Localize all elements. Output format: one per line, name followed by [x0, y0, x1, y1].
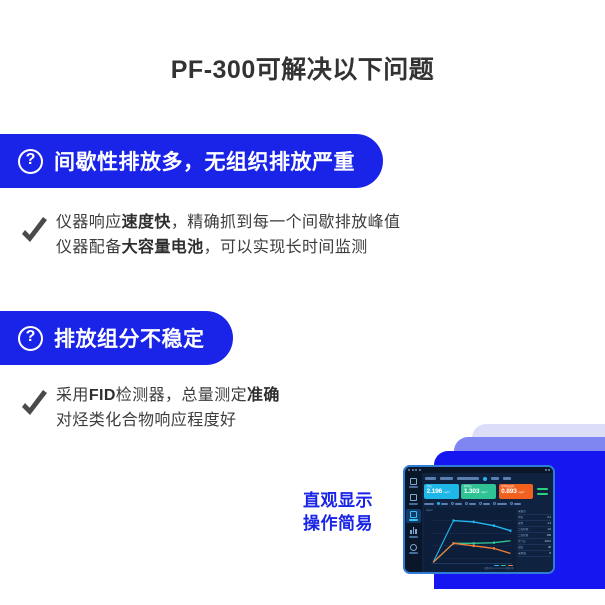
problem-banner-1-label: 间歇性排放多，无组织排放严重: [54, 146, 355, 176]
line-pre: 仪器配备: [56, 239, 122, 256]
app-sidebar: [405, 473, 422, 572]
page-root: PF-300可解决以下问题 ? 间歇性排放多，无组织排放严重 仪器响应速度快，精…: [0, 0, 605, 605]
solution-line: 对烃类化合物响应程度好: [56, 408, 280, 433]
table-row: 温度26: [518, 546, 551, 551]
tablet-device: 甲烷 2.196mg/m³ 非甲烷 1.303mg/m³ 非甲烷总烃 0.893…: [403, 465, 555, 574]
row-value: 1.0: [547, 528, 551, 531]
sidebar-item-label: [409, 536, 418, 538]
radio-icon: [437, 502, 440, 505]
page-title: PF-300可解决以下问题: [0, 50, 605, 86]
problem-banner-2: ? 排放组分不稳定: [0, 311, 233, 365]
value-card-unit: mg/m³: [444, 491, 450, 494]
tablet-body: 甲烷 2.196mg/m³ 非甲烷 1.303mg/m³ 非甲烷总烃 0.893…: [405, 473, 553, 572]
row-label: 采集点: [518, 510, 526, 513]
radio-icon: [493, 502, 496, 505]
value-card-nmhc: 非甲烷 1.303mg/m³: [461, 484, 496, 500]
solution-block-2: 采用FID检测器，总量测定准确 对烃类化合物响应程度好: [20, 383, 280, 433]
device-illustration: 甲烷 2.196mg/m³ 非甲烷 1.303mg/m³ 非甲烷总烃 0.893…: [390, 418, 605, 605]
filter-radio-row: [424, 501, 551, 506]
solution-lines-2: 采用FID检测器，总量测定准确 对烃类化合物响应程度好: [56, 383, 280, 433]
filter-option-label: [483, 503, 490, 505]
value-card-thc: 非甲烷总烃 0.893mg/m³: [499, 484, 534, 500]
value-card-value: 0.893mg/m³: [501, 488, 531, 497]
filter-option-thc[interactable]: [465, 502, 476, 505]
device-caption: 直观显示 操作简易: [303, 489, 373, 535]
row-label: 大气压: [518, 540, 526, 543]
value-card-value: 1.303mg/m³: [464, 488, 494, 497]
sidebar-item-settings[interactable]: [406, 542, 421, 556]
filter-option-benzene[interactable]: [479, 502, 490, 505]
question-circle-icon: ?: [18, 149, 43, 174]
caption-line-2: 操作简易: [303, 512, 373, 535]
app-main: 甲烷 2.196mg/m³ 非甲烷 1.303mg/m³ 非甲烷总烃 0.893…: [422, 473, 553, 572]
line-post: 检测器，总量测定: [116, 387, 247, 404]
question-circle-icon: ?: [18, 326, 43, 351]
filter-option-label: [441, 503, 448, 505]
radio-icon: [465, 502, 468, 505]
row-value: 1.3: [547, 522, 551, 525]
solution-lines-1: 仪器响应速度快，精确抓到每一个间歇排放峰值 仪器配备大容量电池，可以实现长时间监…: [56, 210, 400, 260]
table-row: 采集点: [518, 510, 551, 515]
line-post: ，可以实现长时间监测: [204, 239, 368, 256]
card-action-2[interactable]: [537, 493, 548, 496]
table-row: 甲烷2.1: [518, 516, 551, 521]
row-label: 总烃: [518, 522, 523, 525]
toolbar-field-1[interactable]: [425, 477, 436, 480]
toolbar-field-4[interactable]: [503, 477, 511, 480]
check-icon: [20, 387, 50, 421]
value-card-value: 2.196mg/m³: [427, 488, 457, 497]
status-right-icons: [545, 469, 551, 471]
home-icon: [410, 478, 417, 485]
table-row: 二氧化硫1.0: [518, 528, 551, 533]
table-row: 大气压101.6: [518, 540, 551, 545]
solution-line: 采用FID检测器，总量测定准确: [56, 383, 280, 408]
sidebar-item-data[interactable]: [406, 493, 421, 507]
gear-icon: [410, 544, 417, 551]
toolbar-field-3[interactable]: [491, 477, 499, 480]
sidebar-item-report[interactable]: [406, 526, 421, 540]
toolbar-datetime[interactable]: [457, 477, 479, 480]
filter-option-label: [497, 503, 507, 505]
chart-footer-note: 采集时间 2023-08-16 更新时间: [484, 566, 514, 570]
value-card-unit: mg/m³: [481, 491, 487, 494]
line-bold-2: 准确: [247, 387, 280, 404]
table-row: 总烃1.3: [518, 522, 551, 527]
problem-banner-2-label: 排放组分不稳定: [54, 323, 205, 353]
check-icon: [20, 214, 50, 248]
radio-icon: [451, 502, 454, 505]
row-label: 二氧化氮: [518, 534, 528, 537]
line-bold: 速度快: [122, 214, 171, 231]
grid-icon: [410, 494, 417, 501]
line-bold: FID: [89, 387, 116, 404]
row-value: 100: [547, 534, 551, 537]
row-value: 2.1: [547, 516, 551, 519]
filter-option-methane[interactable]: [437, 502, 448, 505]
sidebar-item-label: [409, 519, 418, 521]
problem-banner-1: ? 间歇性排放多，无组织排放严重: [0, 134, 383, 188]
line-bold: 大容量电池: [122, 239, 204, 256]
table-row: 二氧化氮100: [518, 534, 551, 539]
sidebar-item-home[interactable]: [406, 476, 421, 490]
filter-option-nmhc[interactable]: [451, 502, 462, 505]
row-value: 26: [548, 546, 551, 549]
caption-line-1: 直观显示: [303, 489, 373, 512]
chart-svg: [424, 508, 516, 571]
solution-line: 仪器配备大容量电池，可以实现长时间监测: [56, 235, 400, 260]
row-label: 温度: [518, 546, 523, 549]
row-label: 甲烷: [518, 516, 523, 519]
line-pre: 仪器响应: [56, 214, 122, 231]
radio-icon: [510, 502, 513, 505]
row-label: 二氧化硫: [518, 528, 528, 531]
card-action-1[interactable]: [537, 488, 548, 491]
line-pre: 采用: [56, 387, 89, 404]
filter-option-label: [469, 503, 476, 505]
readings-table: 采集点 甲烷2.1 总烃1.3 二氧化硫1.0 二氧化氮100 大气压101.6…: [518, 508, 551, 571]
filter-option-label: [514, 503, 521, 505]
status-left-icons: [408, 469, 421, 471]
solution-line: 仪器响应速度快，精确抓到每一个间歇排放峰值: [56, 210, 400, 235]
line-post: ，精确抓到每一个间歇排放峰值: [171, 214, 401, 231]
card-side-actions[interactable]: [536, 484, 551, 500]
value-card-methane: 甲烷 2.196mg/m³: [424, 484, 459, 500]
row-value: 8: [550, 552, 551, 555]
sidebar-item-label: [409, 552, 418, 554]
filter-option-label: [455, 503, 462, 505]
value-cards-row: 甲烷 2.196mg/m³ 非甲烷 1.303mg/m³ 非甲烷总烃 0.893…: [424, 484, 551, 500]
row-label: 采样量: [518, 552, 526, 555]
bar-chart-icon: [410, 527, 417, 534]
line-pre: 对烃类化合物响应程度好: [56, 412, 236, 429]
table-row: 采样量8: [518, 552, 551, 557]
app-toolbar: [424, 475, 551, 482]
chart-zone: mg/m³: [424, 508, 551, 571]
monitor-icon: [410, 511, 417, 518]
toolbar-field-2[interactable]: [440, 477, 453, 480]
trend-chart[interactable]: mg/m³: [424, 508, 516, 571]
value-card-unit: mg/m³: [518, 491, 524, 494]
filter-option-xylene[interactable]: [510, 502, 521, 505]
filter-group-label: [424, 503, 434, 505]
sidebar-item-label: [409, 486, 418, 488]
sidebar-item-label: [409, 503, 418, 505]
radio-icon: [479, 502, 482, 505]
solution-block-1: 仪器响应速度快，精确抓到每一个间歇排放峰值 仪器配备大容量电池，可以实现长时间监…: [20, 210, 400, 260]
row-value: 101.6: [545, 540, 552, 543]
sidebar-item-monitor[interactable]: [406, 509, 421, 523]
filter-option-toluene[interactable]: [493, 502, 507, 505]
live-indicator-icon: [483, 477, 487, 481]
